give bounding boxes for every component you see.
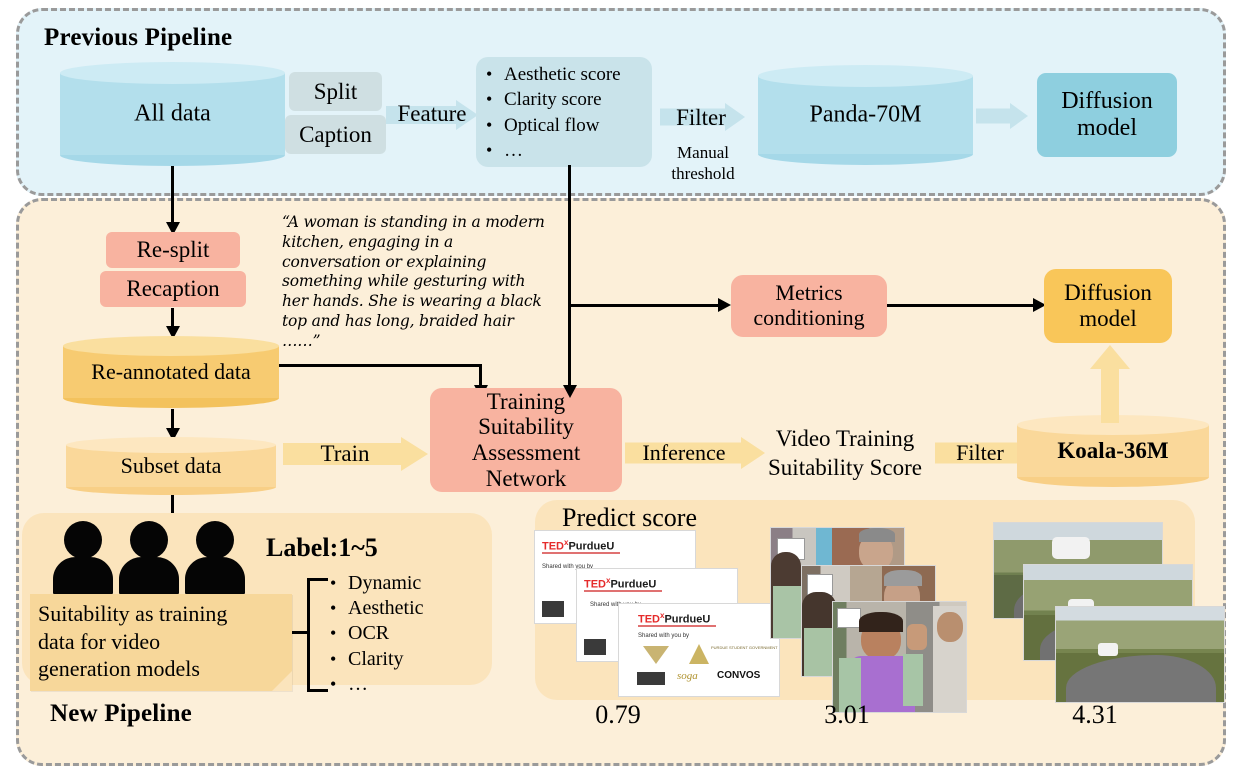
- assessment-network-box[interactable]: Training Suitability Assessment Network: [430, 388, 622, 492]
- predict-score-title: Predict score: [562, 503, 697, 533]
- slide-org-logo: [689, 644, 709, 664]
- reannotated-to-subset-line: [171, 409, 174, 430]
- diffusion-line2: model: [1064, 306, 1152, 332]
- list-item: •Clarity score: [486, 87, 652, 112]
- arrow-head: [401, 437, 428, 471]
- bullet-icon: •: [486, 90, 504, 108]
- metrics-conditioning-label: Metrics conditioning: [753, 281, 864, 330]
- bullet-icon: •: [486, 141, 504, 159]
- list-item: •Aesthetic score: [486, 62, 652, 87]
- criteria-label: Aesthetic: [348, 596, 424, 621]
- features-to-metrics-hline: [568, 304, 720, 307]
- resplit-box[interactable]: Re-split: [106, 232, 240, 268]
- tedx-logo: TEDxPurdueU: [542, 538, 614, 553]
- annotator-avatar: [184, 521, 246, 593]
- annotator-avatar: [52, 521, 114, 593]
- slide-org-label: soga: [677, 670, 698, 682]
- diffusion-label: Diffusion model: [1064, 280, 1152, 332]
- suitability-note: Suitability as training data for video g…: [30, 594, 292, 691]
- ted-red: TED: [584, 579, 606, 591]
- features-to-network-vline: [568, 304, 571, 387]
- diffusion-line1: Diffusion: [1064, 280, 1152, 306]
- feature-arrow-label: Feature: [390, 101, 474, 127]
- ted-red: TED: [542, 541, 564, 553]
- network-line2: Suitability: [472, 414, 581, 440]
- label-range-text: Label:1~5: [266, 533, 378, 563]
- features-to-network-arrowhead: [563, 385, 577, 398]
- hair-shape: [859, 612, 903, 632]
- diffusion-label: Diffusion model: [1061, 88, 1153, 142]
- avatar-body: [185, 557, 245, 595]
- bullet-icon: •: [330, 650, 348, 668]
- features-to-metrics-arrowhead: [718, 298, 731, 312]
- feature-list: •Aesthetic score •Clarity score •Optical…: [486, 62, 652, 163]
- metrics-line2: conditioning: [753, 306, 864, 331]
- cylinder-top: [63, 336, 279, 356]
- reannotated-to-network-vline: [479, 364, 482, 387]
- criteria-label: Dynamic: [348, 571, 421, 596]
- criteria-label: OCR: [348, 621, 389, 646]
- slide-rule: [638, 625, 716, 627]
- predict-score-value: 0.79: [538, 700, 698, 730]
- manual-threshold-line1: Manual: [660, 142, 746, 163]
- predict-score-value: 3.01: [762, 700, 932, 730]
- ted-red: TED: [638, 614, 660, 626]
- face-shape: [937, 612, 963, 642]
- new-diffusion-model-box[interactable]: Diffusion model: [1044, 269, 1172, 343]
- list-item: •Clarity: [330, 647, 480, 672]
- previous-diffusion-model-box[interactable]: Diffusion model: [1037, 73, 1177, 157]
- slide-org-block: [637, 672, 665, 685]
- to-diffusion-arrow: [976, 103, 1028, 129]
- avatar-head: [196, 521, 234, 559]
- hair-shape: [884, 570, 922, 586]
- note-line1: Suitability as training: [38, 600, 282, 628]
- avatar-head: [64, 521, 102, 559]
- koala-dataset-label: Koala-36M: [1017, 438, 1209, 464]
- slide-org-label: PURDUE STUDENT GOVERNMENT: [711, 646, 778, 651]
- reannotated-data-cylinder: Re-annotated data: [63, 336, 279, 408]
- slide-logo-block: [584, 639, 606, 655]
- caption-quote-text: “A woman is standing in a modern kitchen…: [282, 213, 554, 352]
- criteria-brace: [307, 578, 328, 692]
- criteria-label: …: [348, 672, 368, 697]
- sign-icon: [837, 608, 861, 628]
- feature-label: Optical flow: [504, 113, 600, 138]
- thumbnail: [1055, 606, 1225, 703]
- tedx-logo: TEDxPurdueU: [638, 611, 710, 626]
- list-item: •Aesthetic: [330, 596, 480, 621]
- metrics-conditioning-box[interactable]: Metrics conditioning: [731, 275, 887, 337]
- avatar-body: [119, 557, 179, 595]
- koala-dataset-cylinder: Koala-36M: [1017, 415, 1209, 487]
- list-item: •Optical flow: [486, 113, 652, 138]
- suitability-score-label: Video Training Suitability Score: [755, 425, 935, 483]
- note-line2: data for video: [38, 628, 282, 656]
- bullet-icon: •: [330, 599, 348, 617]
- hand-shape: [907, 624, 927, 650]
- road-frame: [1056, 607, 1224, 702]
- note-line3: generation models: [38, 655, 282, 683]
- cylinder-top: [60, 62, 285, 84]
- slide-rule: [542, 552, 620, 554]
- criteria-list: •Dynamic •Aesthetic •OCR •Clarity •…: [330, 571, 480, 697]
- panda-dataset-cylinder: Panda-70M: [758, 65, 973, 165]
- recaption-to-reannotated-line: [171, 308, 174, 328]
- previous-pipeline-title: Previous Pipeline: [44, 24, 232, 52]
- hair-shape: [859, 528, 895, 542]
- note-fold-corner: [272, 671, 292, 691]
- features-trunk-vline: [568, 165, 571, 307]
- arrow-head: [1090, 345, 1130, 369]
- split-box[interactable]: Split: [289, 72, 382, 111]
- score-line2: Suitability Score: [755, 454, 935, 483]
- thumbnail-stack-1: TEDxPurdueU Shared with you by TEDxPurdu…: [534, 530, 769, 685]
- feature-label: Aesthetic score: [504, 62, 621, 87]
- reannotated-data-label: Re-annotated data: [63, 359, 279, 385]
- panda-dataset-label: Panda-70M: [758, 102, 973, 129]
- thumbnail-stack-2: [770, 527, 975, 692]
- arrow-shaft: [976, 109, 1012, 124]
- list-item: •…: [330, 672, 480, 697]
- arrow-head: [1010, 103, 1028, 129]
- predict-score-value: 4.31: [1010, 700, 1180, 730]
- arrow-shaft: [1101, 367, 1119, 423]
- slide-org-logo: [643, 646, 669, 664]
- list-item: •Dynamic: [330, 571, 480, 596]
- new-filter-arrow-label: Filter: [936, 437, 1024, 469]
- avatar-body: [53, 557, 113, 595]
- person-sleeve: [903, 654, 923, 706]
- thumbnail: TEDxPurdueU Shared with you by PURDUE ST…: [618, 603, 780, 697]
- network-line4: Network: [472, 466, 581, 492]
- alldata-to-resplit-line: [171, 166, 174, 224]
- slide-content: TEDxPurdueU Shared with you by PURDUE ST…: [619, 604, 779, 696]
- filter-arrow-label: Filter: [662, 105, 740, 131]
- feature-label: Clarity score: [504, 87, 602, 112]
- all-data-cylinder: All data: [60, 62, 285, 166]
- manual-threshold-line2: threshold: [660, 163, 746, 184]
- slide-shared-text: Shared with you by: [638, 633, 689, 639]
- inference-arrow-label: Inference: [626, 437, 742, 469]
- bullet-icon: •: [486, 65, 504, 83]
- diffusion-line1: Diffusion: [1061, 88, 1153, 115]
- train-arrow-label: Train: [286, 437, 404, 471]
- criteria-label: Clarity: [348, 647, 404, 672]
- reannotated-to-network-hline: [279, 364, 482, 367]
- list-item: •OCR: [330, 621, 480, 646]
- recaption-box[interactable]: Recaption: [100, 271, 246, 307]
- car-icon: [1052, 537, 1090, 559]
- koala-to-diffusion-arrow: [1090, 345, 1130, 423]
- caption-box[interactable]: Caption: [285, 115, 386, 154]
- bullet-icon: •: [330, 574, 348, 592]
- all-data-label: All data: [60, 101, 285, 128]
- metrics-to-diffusion-hline: [887, 304, 1035, 307]
- kitchen-frame: [833, 602, 966, 712]
- bullet-icon: •: [330, 624, 348, 642]
- ted-name: PurdueU: [610, 579, 656, 591]
- slide-rule: [584, 590, 662, 592]
- bullet-icon: •: [486, 116, 504, 134]
- ted-name: PurdueU: [568, 541, 614, 553]
- assessment-network-label: Training Suitability Assessment Network: [472, 389, 581, 492]
- subset-data-cylinder: Subset data: [66, 437, 276, 495]
- diffusion-line2: model: [1061, 115, 1153, 142]
- bullet-icon: •: [330, 675, 348, 693]
- manual-threshold-label: Manual threshold: [660, 142, 746, 185]
- avatar-head: [130, 521, 168, 559]
- thumbnail-stack-3: [993, 522, 1193, 692]
- criteria-brace-stem: [292, 631, 310, 634]
- slide-logo-block: [542, 601, 564, 617]
- metrics-line1: Metrics: [753, 281, 864, 306]
- score-line1: Video Training: [755, 425, 935, 454]
- tedx-logo: TEDxPurdueU: [584, 576, 656, 591]
- ted-name: PurdueU: [664, 614, 710, 626]
- person-clothing: [773, 586, 801, 638]
- subset-data-label: Subset data: [66, 453, 276, 479]
- network-line3: Assessment: [472, 440, 581, 466]
- cylinder-top: [66, 437, 276, 453]
- cylinder-top: [758, 65, 973, 87]
- slide-org-label: CONVOS: [717, 670, 760, 681]
- car-icon: [1098, 643, 1118, 656]
- new-pipeline-title: New Pipeline: [50, 700, 192, 728]
- feature-label: …: [504, 138, 523, 163]
- thumbnail: [832, 601, 967, 713]
- list-item: •…: [486, 138, 652, 163]
- annotator-avatar: [118, 521, 180, 593]
